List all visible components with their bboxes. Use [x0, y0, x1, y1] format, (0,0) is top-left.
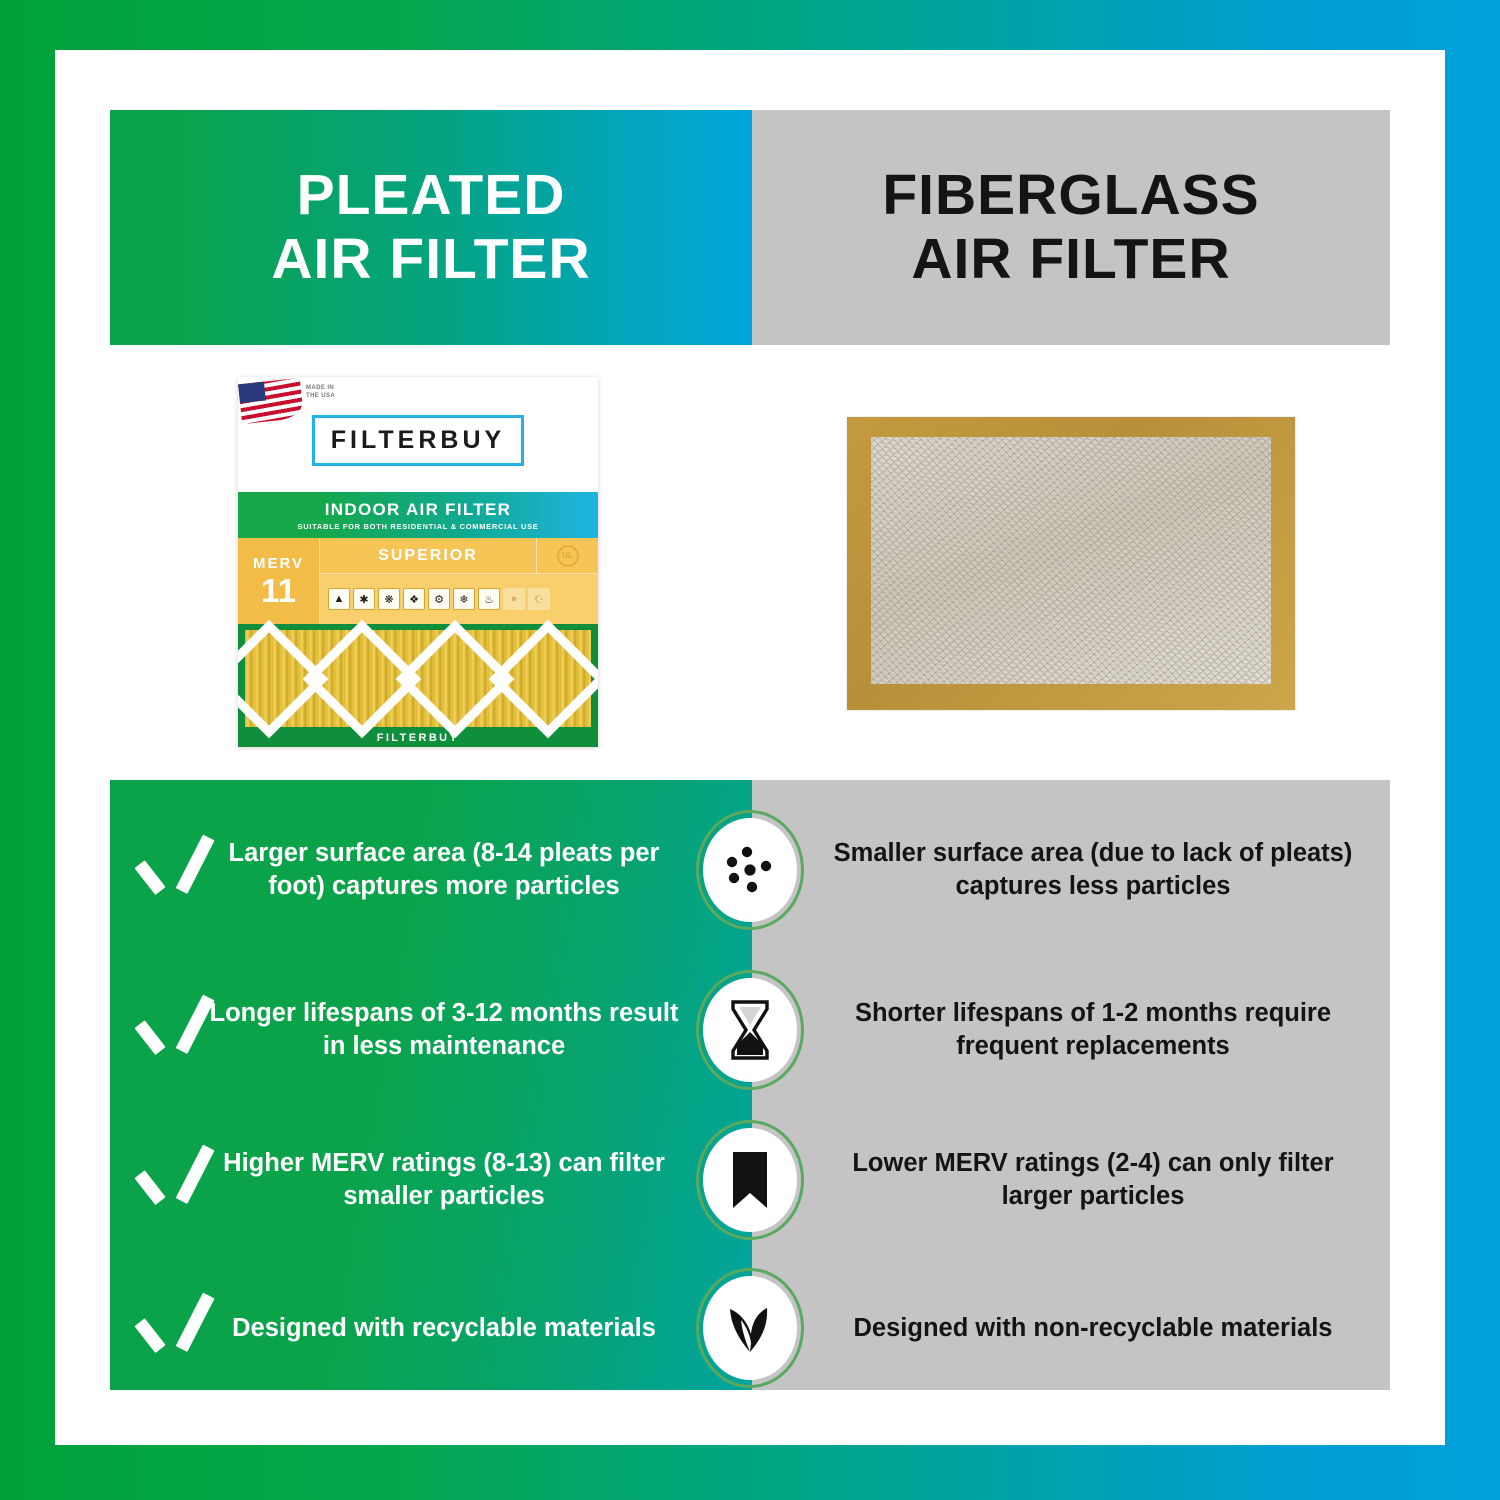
pet-dander-icon: ❄	[453, 588, 475, 610]
dust-icon: ▲	[328, 588, 350, 610]
hourglass-glyph	[727, 999, 773, 1061]
merv-badge: MERV 11	[238, 538, 320, 624]
fiberglass-product-cell	[750, 345, 1390, 780]
merv-capability-icons: ▲ ✱ ❋ ❖ ⚙ ❄ ♨ ● ☪	[320, 574, 598, 624]
content-plate: PLEATED AIR FILTER FIBERGLASS AIR FILTER…	[110, 110, 1390, 1390]
particles-glyph	[719, 842, 781, 898]
row3-pleated-text: Higher MERV ratings (8-13) can filter sm…	[208, 1147, 680, 1212]
box-band-subtitle: SUITABLE FOR BOTH RESIDENTIAL & COMMERCI…	[298, 522, 539, 531]
row4-pleated-cell: Designed with recyclable materials	[110, 1297, 752, 1359]
row3-fiberglass-text: Lower MERV ratings (2-4) can only filter…	[830, 1147, 1356, 1212]
medallion-face	[703, 818, 797, 922]
row1-pleated-cell: Larger surface area (8-14 pleats per foo…	[110, 837, 752, 902]
insect-icon: ✱	[353, 588, 375, 610]
made-in-usa-text: MADE IN THE USA	[306, 385, 335, 401]
mold-spore-icon: ❖	[403, 588, 425, 610]
medallion-face	[703, 1128, 797, 1232]
virus-icon: ●	[503, 588, 525, 610]
header-pleated-line2: AIR FILTER	[271, 228, 590, 292]
header-fiberglass: FIBERGLASS AIR FILTER	[752, 110, 1390, 345]
merv-value: 11	[261, 574, 296, 607]
fiberglass-filter-image	[847, 417, 1295, 710]
merv-tier-label: SUPERIOR	[320, 547, 536, 565]
header-pleated-line1: PLEATED	[271, 164, 590, 228]
row3-fiberglass-cell: Lower MERV ratings (2-4) can only filter…	[752, 1147, 1390, 1212]
bacteria-icon: ⚙	[428, 588, 450, 610]
pleated-filter-box-image: MADE IN THE USA FILTERBUY INDOOR AIR FIL…	[238, 377, 598, 747]
header-fiberglass-line2: AIR FILTER	[882, 228, 1259, 292]
header-pleated-title: PLEATED AIR FILTER	[271, 164, 590, 292]
merv-tier-row: SUPERIOR UL	[320, 538, 598, 574]
pleated-product-cell: MADE IN THE USA FILTERBUY INDOOR AIR FIL…	[110, 345, 750, 780]
made-in-usa-line1: MADE IN	[306, 385, 335, 393]
box-band-title: INDOOR AIR FILTER	[325, 500, 511, 520]
box-brand-header: MADE IN THE USA FILTERBUY	[238, 377, 598, 492]
filterbuy-logo: FILTERBUY	[312, 415, 524, 466]
bookmark-glyph	[729, 1150, 771, 1210]
ul-certification-mark: UL	[536, 538, 598, 574]
fiberglass-media-texture	[871, 437, 1271, 684]
header-pleated: PLEATED AIR FILTER	[110, 110, 752, 345]
leaf-glyph	[721, 1299, 779, 1357]
check-icon	[144, 1149, 202, 1211]
row2-pleated-cell: Longer lifespans of 3-12 months result i…	[110, 997, 752, 1062]
header-band: PLEATED AIR FILTER FIBERGLASS AIR FILTER	[110, 110, 1390, 345]
pollen-icon: ❋	[378, 588, 400, 610]
header-fiberglass-title: FIBERGLASS AIR FILTER	[882, 164, 1259, 292]
usa-flag-icon	[238, 378, 304, 424]
row1-fiberglass-text: Smaller surface area (due to lack of ple…	[830, 837, 1356, 902]
diamond-4	[489, 619, 598, 738]
filter-bottom-brand: FILTERBUY	[238, 732, 598, 744]
particles-icon	[696, 810, 804, 930]
check-icon	[144, 999, 202, 1061]
row2-pleated-text: Longer lifespans of 3-12 months result i…	[208, 997, 680, 1062]
box-merv-section: MERV 11 SUPERIOR UL ▲ ✱ ❋	[238, 538, 598, 624]
comparison-rows: Larger surface area (8-14 pleats per foo…	[110, 780, 1390, 1390]
ul-icon: UL	[557, 545, 579, 567]
header-fiberglass-line1: FIBERGLASS	[882, 164, 1259, 228]
row4-fiberglass-cell: Designed with non-recyclable materials	[752, 1312, 1390, 1345]
row2-fiberglass-cell: Shorter lifespans of 1-2 months require …	[752, 997, 1390, 1062]
pleated-media-graphic: FILTERBUY	[238, 624, 598, 747]
merv-detail: SUPERIOR UL ▲ ✱ ❋ ❖ ⚙ ❄ ♨	[320, 538, 598, 624]
leaf-icon	[696, 1268, 804, 1388]
row3-pleated-cell: Higher MERV ratings (8-13) can filter sm…	[110, 1147, 752, 1212]
product-image-row: MADE IN THE USA FILTERBUY INDOOR AIR FIL…	[110, 345, 1390, 780]
medallion-face	[703, 1276, 797, 1380]
row1-pleated-text: Larger surface area (8-14 pleats per foo…	[208, 837, 680, 902]
check-icon	[144, 1297, 202, 1359]
odor-icon: ☪	[528, 588, 550, 610]
row4-fiberglass-text: Designed with non-recyclable materials	[830, 1312, 1356, 1345]
hourglass-icon	[696, 970, 804, 1090]
merv-label: MERV	[253, 555, 304, 572]
smoke-icon: ♨	[478, 588, 500, 610]
row2-fiberglass-text: Shorter lifespans of 1-2 months require …	[830, 997, 1356, 1062]
bookmark-icon	[696, 1120, 804, 1240]
check-icon	[144, 839, 202, 901]
row4-pleated-text: Designed with recyclable materials	[208, 1312, 680, 1345]
made-in-usa-line2: THE USA	[306, 393, 335, 401]
diamond-support-grid	[245, 630, 591, 727]
filterbuy-wordmark: FILTERBUY	[331, 426, 505, 454]
medallion-face	[703, 978, 797, 1082]
box-product-band: INDOOR AIR FILTER SUITABLE FOR BOTH RESI…	[238, 492, 598, 538]
row1-fiberglass-cell: Smaller surface area (due to lack of ple…	[752, 837, 1390, 902]
